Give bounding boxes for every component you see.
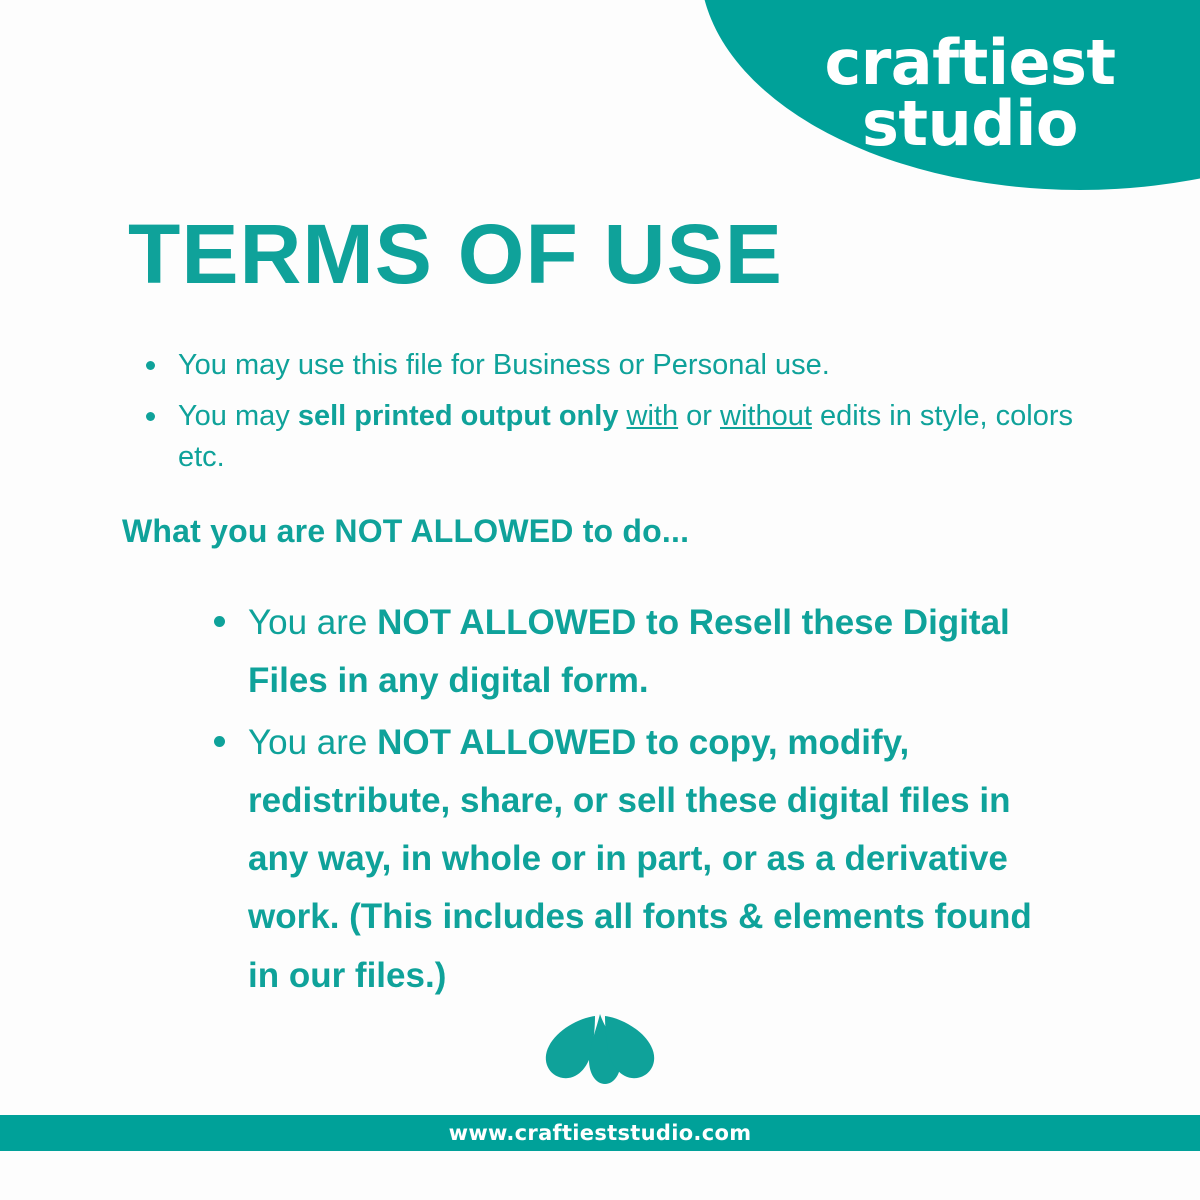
not-allowed-list-item: You are NOT ALLOWED to copy, modify, red… bbox=[200, 714, 1040, 1004]
text-segment bbox=[618, 400, 626, 432]
brand-logo: craftiest studio bbox=[760, 34, 1180, 152]
footer-bar: www.craftieststudio.com bbox=[0, 1115, 1200, 1151]
page-title: TERMS OF USE bbox=[128, 206, 783, 303]
not-allowed-list: You are NOT ALLOWED to Resell these Digi… bbox=[200, 594, 1040, 1009]
brand-logo-line2: studio bbox=[760, 95, 1180, 152]
text-segment: You may bbox=[178, 400, 298, 432]
allowed-usage-list: You may use this file for Business or Pe… bbox=[132, 345, 1092, 489]
text-segment: or bbox=[678, 400, 720, 432]
allowed-list-item: You may sell printed output only with or… bbox=[132, 396, 1092, 478]
text-segment: NOT ALLOWED to copy, modify, redistribut… bbox=[248, 723, 1032, 994]
three-droplets-icon bbox=[535, 1008, 665, 1088]
allowed-list-item: You may use this file for Business or Pe… bbox=[132, 345, 1092, 386]
text-segment: You are bbox=[248, 603, 377, 642]
not-allowed-list-item: You are NOT ALLOWED to Resell these Digi… bbox=[200, 594, 1040, 710]
text-segment: You are bbox=[248, 723, 377, 762]
brand-logo-line1: craftiest bbox=[760, 34, 1180, 91]
text-segment: with bbox=[627, 400, 679, 432]
text-segment: without bbox=[720, 400, 812, 432]
not-allowed-heading: What you are NOT ALLOWED to do... bbox=[122, 513, 689, 550]
text-segment: You may use this file for Business or Pe… bbox=[178, 349, 830, 381]
terms-of-use-page: craftiest studio TERMS OF USE You may us… bbox=[0, 0, 1200, 1200]
text-segment: sell printed output only bbox=[298, 400, 619, 432]
footer-website-url: www.craftieststudio.com bbox=[449, 1121, 752, 1145]
